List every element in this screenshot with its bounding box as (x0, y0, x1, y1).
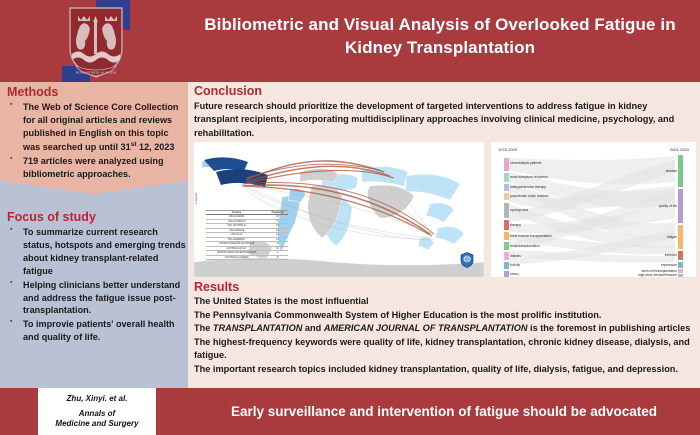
focus-bullet-2: Helping clinicians better understand and… (4, 279, 188, 318)
sankey-left-label: renal transplant recipients (510, 175, 548, 179)
sankey-right-node (678, 269, 683, 273)
focus-heading: Focus of study (7, 210, 188, 224)
sankey-left-label: renal transplantation (510, 244, 540, 248)
sankey-left-node (504, 203, 509, 218)
poster-header: HUMANI NIHIL ALIENUM Bibliometric and Vi… (0, 0, 700, 82)
sankey-left-label: therapy (510, 223, 521, 227)
svg-text:HUMANI NIHIL ALIENUM: HUMANI NIHIL ALIENUM (76, 71, 116, 75)
conclusion-heading: Conclusion (194, 84, 262, 98)
results-line-3-pre: The (194, 323, 213, 333)
focus-bullet-3: To improvie patients' overall health and… (4, 318, 188, 344)
results-line-3-post: is the foremost in publishing articles (527, 323, 690, 333)
results-line-3-mid: and (302, 323, 323, 333)
sankey-left-label: bone marrow transplantation (510, 234, 552, 238)
sankey-right-node (678, 262, 683, 268)
poster-title: Bibliometric and Visual Analysis of Over… (190, 14, 690, 60)
results-line-2: The Pennsylvania Commonwealth System of … (194, 309, 696, 323)
methods-heading: Methods (7, 85, 58, 99)
map-row-freq: 8 (267, 255, 288, 259)
results-line-5: The important research topics included k… (194, 363, 696, 377)
figures-row: Longitude (194, 142, 696, 277)
focus-bullet-list: To summarize current research status, ho… (4, 226, 188, 344)
citation-journal-line2: Medicine and Surgery (55, 419, 138, 429)
methods-bullet-2: 719 articles were analyzed using bibliom… (4, 155, 188, 181)
sankey-left-label: antihypertensive therapy (510, 185, 546, 189)
crest-shield-icon: HUMANI NIHIL ALIENUM (66, 4, 126, 80)
sankey-right-label: quality of life (659, 204, 677, 208)
methods-bullet-1: The Web of Science Core Collection for a… (4, 101, 188, 154)
sankey-right-node (678, 274, 683, 277)
sankey-left-node (504, 252, 509, 260)
university-crest: HUMANI NIHIL ALIENUM (62, 0, 130, 82)
results-line-1: The United States is the most influentia… (194, 295, 696, 309)
journal-name-ajt: AMERICAN JOURNAL OF TRANSPLANTATION (324, 323, 528, 333)
map-row-country: AUSTRALIA-CANADA (206, 255, 267, 259)
methods-panel: Methods The Web of Science Core Collecti… (0, 82, 188, 194)
methods-bullet-list: The Web of Science Core Collection for a… (4, 101, 188, 181)
focus-bullet-1: To summarize current research status, ho… (4, 226, 188, 278)
main-column: Conclusion Future research should priori… (188, 82, 700, 388)
map-collaboration-table: Country Frequency USA-CANADA18 USA-UNITE… (206, 210, 288, 260)
sankey-right-label: high-dose dexamethasone (638, 273, 677, 277)
methods-bullet-1-text-b: 12, 2023 (137, 142, 175, 152)
results-lines: The United States is the most influentia… (194, 295, 696, 376)
map-table-body: USA-CANADA18 USA-UNITED KI17 USA-AUSTRAL… (206, 215, 288, 260)
results-line-4: The highest-frequency keywords were qual… (194, 336, 696, 363)
sankey-period-left-label: 1978-2000 (498, 147, 517, 152)
journal-name-transplantation: TRANSPLANTATION (213, 323, 302, 333)
country-collaboration-world-map[interactable]: Longitude (194, 142, 484, 277)
left-column: Methods The Web of Science Core Collecti… (0, 82, 188, 388)
sankey-left-node (504, 158, 509, 171)
citation-card: Zhu, Xinyi. et al. Annals of Medicine an… (38, 388, 156, 435)
sankey-left-node (504, 184, 509, 191)
sankey-left-node (504, 232, 509, 240)
sankey-right-node (678, 189, 683, 223)
table-row: UNITED KINGDOM-AUSTRALIA11 (206, 242, 288, 246)
sankey-left-label: dialysis (510, 254, 521, 258)
sankey-left-node (504, 262, 509, 269)
citation-journal: Annals of Medicine and Surgery (55, 409, 138, 429)
conclusion-text: Future research should prioritize the de… (194, 100, 694, 140)
sankey-period-right-label: 2001-2024 (670, 147, 689, 152)
sankey-right-node (678, 251, 683, 260)
sankey-left-label: cyclosporine (510, 208, 528, 212)
sankey-left-node (504, 220, 509, 230)
sankey-left-label: toxicity (510, 263, 520, 267)
poster-root: HUMANI NIHIL ALIENUM Bibliometric and Vi… (0, 0, 700, 435)
map-seal-badge-icon (460, 252, 474, 268)
footer-tagline: Early surveillance and intervention of f… (188, 388, 700, 435)
sankey-left-label: polymerase chain reaction (510, 194, 548, 198)
sankey-left-node (504, 173, 509, 182)
sankey-left-label: hemodialysis patients (510, 161, 542, 165)
sankey-right-label: fatigue (667, 235, 677, 239)
sankey-right-label: disease (666, 169, 677, 173)
table-row: AUSTRALIA-CANADA8 (206, 255, 288, 259)
results-heading: Results (194, 280, 239, 294)
citation-journal-line1: Annals of (55, 409, 138, 419)
sankey-left-label: class-i (510, 272, 519, 276)
results-line-3: The TRANSPLANTATION and AMERICAN JOURNAL… (194, 322, 696, 336)
sankey-left-node (504, 271, 509, 277)
sankey-left-node (504, 193, 509, 200)
sankey-right-node (678, 225, 683, 249)
sankey-right-label: expression (661, 263, 677, 267)
sankey-right-node (678, 155, 683, 187)
sankey-right-label: infection (665, 253, 677, 257)
sankey-left-node (504, 242, 509, 250)
map-longitude-axis-label: Longitude (195, 193, 198, 204)
focus-of-study-block: Focus of study To summarize current rese… (0, 210, 188, 345)
keyword-thematic-evolution-sankey[interactable]: 1978-2000 2001-2024 (491, 142, 696, 277)
citation-authors: Zhu, Xinyi. et al. (67, 394, 128, 403)
poster-footer: Zhu, Xinyi. et al. Annals of Medicine an… (0, 388, 700, 435)
